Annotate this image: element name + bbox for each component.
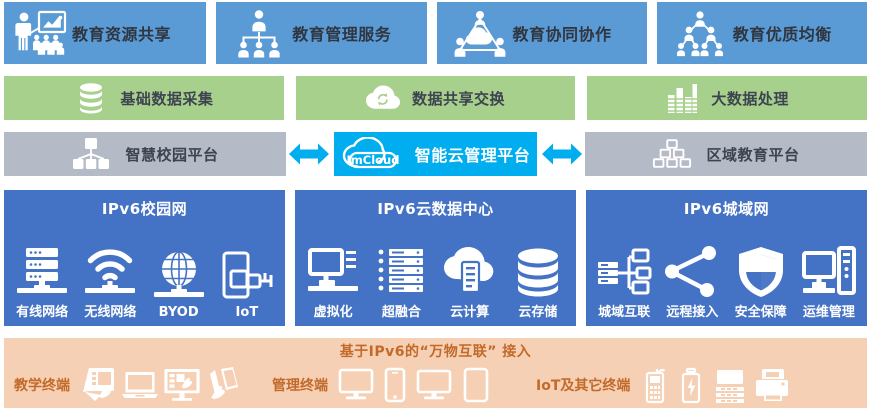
ipv6-title-datacenter: IPv6云数据中心 [377, 198, 493, 219]
laptop-icon[interactable] [122, 365, 158, 405]
cloud-collaboration-icon [451, 6, 509, 60]
ipv6-label-metro-interconnect: 城域互联 [598, 301, 650, 320]
terminal-groups: 教学终端 [4, 362, 867, 408]
platform-label-right: 区域教育平台 [706, 144, 799, 165]
ipv6-item-cloudcomputing[interactable]: 云计算 [438, 245, 502, 320]
database-stack-icon [74, 82, 108, 114]
ipv6-label-virtualization: 虚拟化 [314, 301, 353, 320]
terminal-label-teaching: 教学终端 [14, 375, 70, 395]
server-wired-icon [14, 245, 70, 299]
data-card-1[interactable]: 基础数据采集 [4, 76, 284, 120]
terminal-group-iot: IoT及其它终端 [536, 365, 790, 405]
ipv6-item-ops[interactable]: 运维管理 [797, 245, 861, 320]
ipv6-item-virtualization[interactable]: 虚拟化 [301, 245, 365, 320]
imcloud-logo-icon: ImCloud [341, 137, 413, 171]
monitor-virtual-icon [305, 245, 361, 299]
ipv6-label-security: 安全保障 [735, 301, 787, 320]
shield-icon [733, 245, 789, 299]
double-arrow-icon-left [286, 141, 332, 167]
feature-phone-icon[interactable] [640, 365, 670, 405]
terminal-label-management: 管理终端 [272, 375, 328, 395]
ipv6-label-wireless: 无线网络 [84, 301, 136, 320]
ipv6-item-wireless[interactable]: 无线网络 [78, 245, 142, 320]
ipv6-label-hci: 超融合 [382, 301, 421, 320]
ipv6-item-remote-access[interactable]: 远程接入 [660, 245, 724, 320]
ipv6-title-metro: IPv6城域网 [684, 198, 769, 219]
ipv6-label-cloudstorage: 云存储 [518, 301, 557, 320]
rack-server-icon [373, 245, 429, 299]
ipv6-items-metro: 城域互联 [586, 221, 867, 326]
services-row: 教育资源共享 [0, 2, 871, 64]
service-label-3: 教育协同协作 [513, 21, 612, 45]
service-card-2[interactable]: 教育管理服务 [216, 2, 426, 64]
data-card-3[interactable]: 大数据处理 [587, 76, 867, 120]
ipv6-row: IPv6校园网 [0, 190, 871, 326]
terminal-label-iot: IoT及其它终端 [536, 375, 630, 395]
metro-network-icon [596, 245, 652, 299]
imcloud-logo-text: ImCloud [346, 153, 399, 167]
teacher-presentation-icon [10, 6, 68, 60]
globe-icon [151, 249, 207, 303]
people-network-icon [671, 6, 729, 60]
campus-tree-icon [71, 137, 111, 171]
ipv6-item-security[interactable]: 安全保障 [729, 245, 793, 320]
ipv6-label-byod: BYOD [159, 305, 199, 320]
card-reader-icon[interactable] [712, 365, 748, 405]
ipv6-item-wired[interactable]: 有线网络 [10, 245, 74, 320]
service-label-2: 教育管理服务 [292, 21, 391, 45]
share-nodes-icon [664, 245, 720, 299]
ipv6-panel-metro[interactable]: IPv6城域网 [586, 190, 867, 326]
data-label-1: 基础数据采集 [120, 88, 213, 109]
terminal-group-teaching: 教学终端 [14, 365, 242, 405]
wifi-icon [82, 245, 138, 299]
service-label-1: 教育资源共享 [72, 21, 171, 45]
service-card-3[interactable]: 教育协同协作 [437, 2, 647, 64]
cloud-storage-db-icon [510, 245, 566, 299]
data-layer-row: 基础数据采集 数据共享交换 [0, 76, 871, 120]
service-card-4[interactable]: 教育优质均衡 [657, 2, 867, 64]
ipv6-item-cloudstorage[interactable]: 云存储 [506, 245, 570, 320]
platform-card-right[interactable]: 区域教育平台 [585, 132, 867, 176]
desktop-icon[interactable] [338, 365, 374, 405]
cloud-platform-label: 智能云管理平台 [415, 142, 531, 166]
tablet-hand-icon[interactable] [80, 365, 116, 405]
ipv6-title-campus: IPv6校园网 [102, 198, 187, 219]
cloud-sync-icon [366, 82, 400, 114]
ipv6-panel-datacenter[interactable]: IPv6云数据中心 [295, 190, 576, 326]
cloud-platform-card[interactable]: ImCloud 智能云管理平台 [334, 132, 537, 176]
architecture-diagram: 教育资源共享 [0, 0, 871, 408]
bar-data-icon [665, 82, 699, 114]
ipv6-item-metro-interconnect[interactable]: 城域互联 [592, 245, 656, 320]
touch-monitor-icon[interactable] [164, 365, 200, 405]
book-hand-icon[interactable] [206, 365, 242, 405]
pyramid-blocks-icon [652, 137, 692, 171]
terminal-group-management: 管理终端 [272, 365, 494, 405]
service-label-4: 教育优质均衡 [733, 21, 832, 45]
printer-icon[interactable] [754, 365, 790, 405]
org-chart-people-icon [230, 6, 288, 60]
ipv6-item-iot[interactable]: IoT [215, 249, 279, 320]
tablet-icon[interactable] [458, 365, 494, 405]
platform-card-left[interactable]: 智慧校园平台 [4, 132, 286, 176]
ipv6-panel-campus[interactable]: IPv6校园网 [4, 190, 285, 326]
data-label-2: 数据共享交换 [412, 88, 505, 109]
platform-label-left: 智慧校园平台 [125, 144, 218, 165]
ipv6-label-iot: IoT [236, 305, 259, 320]
ipv6-label-ops: 运维管理 [803, 301, 855, 320]
power-device-icon[interactable] [676, 365, 706, 405]
ipv6-label-wired: 有线网络 [16, 301, 68, 320]
ipv6-label-cloudcomputing: 云计算 [450, 301, 489, 320]
iot-device-icon [219, 249, 275, 303]
ipv6-item-byod[interactable]: BYOD [147, 249, 211, 320]
ipv6-label-remote-access: 远程接入 [666, 301, 718, 320]
terminals-row: 基于IPv6的“万物互联” 接入 教学终端 [4, 338, 867, 408]
terminals-title: 基于IPv6的“万物互联” 接入 [4, 341, 867, 361]
data-card-2[interactable]: 数据共享交换 [296, 76, 576, 120]
platform-row: 智慧校园平台 ImCloud 智能云管理平台 [0, 130, 871, 178]
ipv6-items-campus: 有线网络 [4, 221, 285, 326]
ops-monitor-icon [801, 245, 857, 299]
double-arrow-icon-right [539, 141, 585, 167]
smartphone-icon[interactable] [380, 365, 410, 405]
data-label-3: 大数据处理 [711, 88, 789, 109]
cloud-compute-icon [442, 245, 498, 299]
ipv6-items-datacenter: 虚拟化 [295, 221, 576, 326]
monitor-icon[interactable] [416, 365, 452, 405]
ipv6-item-hci[interactable]: 超融合 [369, 245, 433, 320]
service-card-1[interactable]: 教育资源共享 [4, 2, 206, 64]
